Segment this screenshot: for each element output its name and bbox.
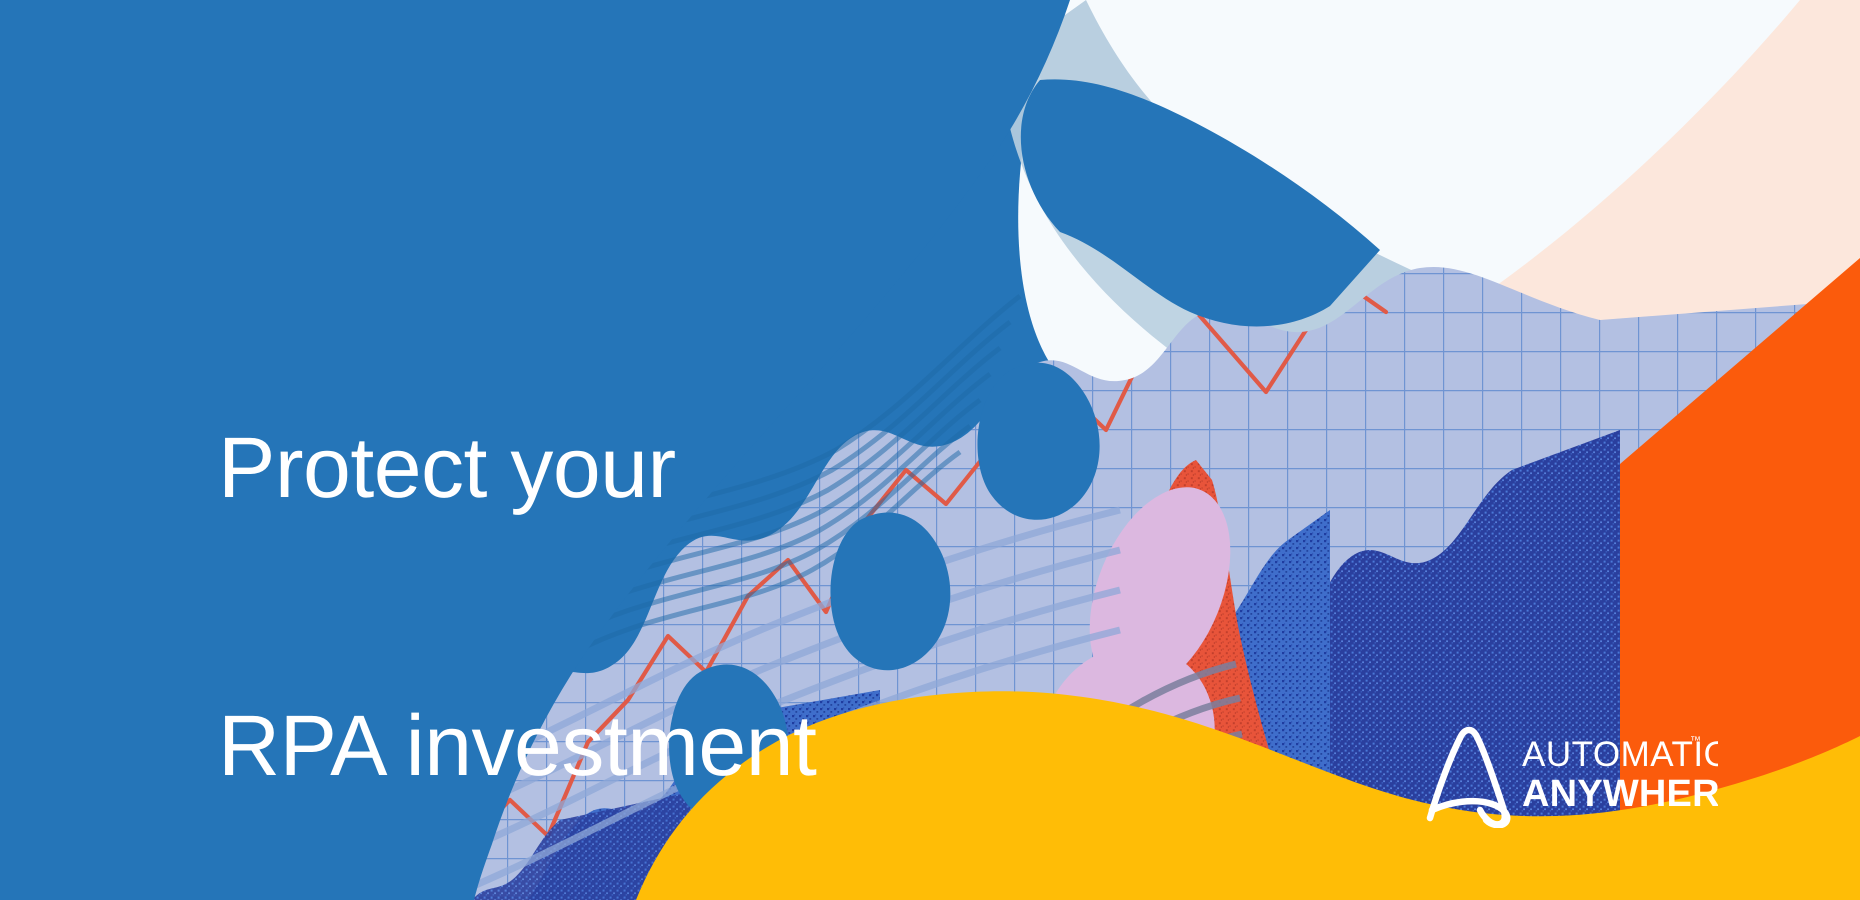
logo-svg: AUTOMATION ™ ANYWHERE xyxy=(1418,718,1718,828)
logo-trademark: ™ xyxy=(1690,735,1701,747)
logo-word-bottom: ANYWHERE xyxy=(1522,773,1718,815)
headline: Protect your RPA investment xyxy=(218,236,816,900)
a-mark-icon xyxy=(1430,730,1507,825)
automation-anywhere-logo[interactable]: AUTOMATION ™ ANYWHERE xyxy=(1418,718,1718,828)
logo-word-top: AUTOMATION xyxy=(1522,735,1718,774)
headline-line-1: Protect your xyxy=(218,422,816,515)
hero-banner: Protect your RPA investment AUTOMATION ™… xyxy=(0,0,1860,900)
headline-line-2: RPA investment xyxy=(218,700,816,793)
